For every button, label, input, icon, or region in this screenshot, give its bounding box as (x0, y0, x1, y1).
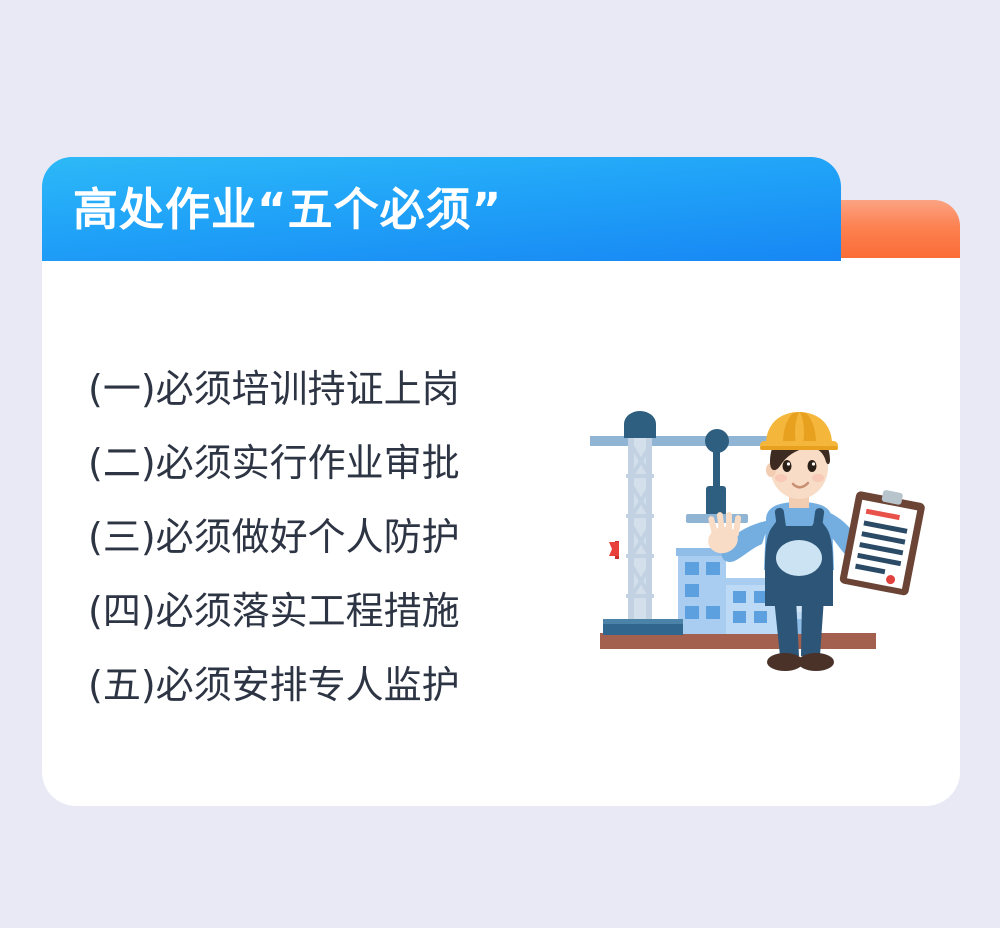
worker-eye-right (808, 460, 817, 472)
orange-accent-tab (841, 200, 960, 262)
list-item: (一)必须培训持证上岗 (88, 352, 518, 426)
list-item: (三)必须做好个人防护 (88, 500, 518, 574)
requirement-list: (一)必须培训持证上岗 (二)必须实行作业审批 (三)必须做好个人防护 (四)必… (88, 352, 518, 722)
crane-tower (626, 438, 654, 628)
list-item: (五)必须安排专人监护 (88, 648, 518, 722)
construction-site-worker-illustration (580, 400, 950, 700)
building-tall (676, 548, 728, 634)
worker-leg-right (801, 598, 824, 656)
worker-eye-left (783, 460, 792, 472)
list-item: (二)必须实行作业审批 (88, 426, 518, 500)
poster-canvas: 高处作业“五个必须” (一)必须培训持证上岗 (二)必须实行作业审批 (三)必须… (0, 0, 1000, 928)
worker-overalls-pocket (776, 540, 822, 576)
crane-warning-flag (609, 541, 619, 559)
worker-helmet (760, 412, 838, 450)
crane-cap (624, 411, 656, 438)
list-item: (四)必须落实工程措施 (88, 574, 518, 648)
worker-shoe-right (798, 653, 834, 671)
card-header: 高处作业“五个必须” (42, 157, 841, 261)
ground-bar (600, 633, 876, 649)
clipboard (839, 485, 927, 597)
page-title: 高处作业“五个必须” (73, 187, 502, 232)
worker-head (760, 412, 838, 499)
worker-shoe-left (767, 653, 803, 671)
